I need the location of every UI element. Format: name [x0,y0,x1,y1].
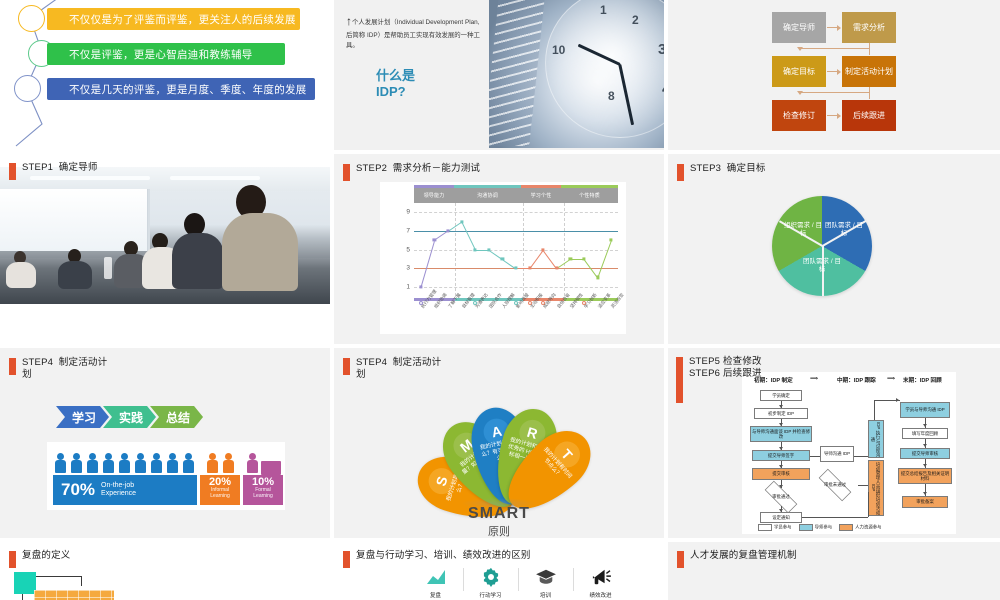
node-7: 审批未通过 [812,476,858,494]
flow-arrow-5-6 [837,113,841,119]
data-point [474,248,477,251]
flow-box-5: 检查修订 [772,100,826,131]
legend-label-3: 人力资源参与 [855,525,881,530]
slide7-title: STEP4 制定活动计划 [22,357,108,381]
pct-70-caption: On-the-job Experience [101,482,136,498]
accent-bar [9,551,16,568]
x-axis-marker [528,301,532,305]
category-group-1: 领导能力 [414,188,454,203]
data-point [419,285,422,288]
smart-subtitle: 原则 [334,523,664,538]
data-point [433,239,436,242]
node-13: 填写年度回顾 [902,428,948,439]
slide6-step: STEP3 [690,163,721,174]
y-axis-tick: 9 [406,209,410,216]
accent-bar [343,551,350,568]
gridline-v [564,203,565,296]
chevron-practice: 实践 [103,406,156,428]
pie-label-2: 团队需求 / 目标 [801,258,843,275]
statement-bar-3: 不仅是几天的评鉴，更是月度、季度、年度的发展 [47,78,315,100]
legend-label-1: 学员参与 [774,525,792,530]
slide2-heading-line2: IDP? [376,84,415,100]
slide5-step: STEP2 [356,163,387,174]
x-axis-marker [541,301,545,305]
idp-definition-text: ↑个人发展计划（Individual Development Plan, 后简称… [346,12,481,50]
statement-text-3: 不仅是几天的评鉴，更是月度、季度、年度的发展 [69,82,307,97]
flow-box-3: 确定目标 [772,56,826,87]
icon-cell-training[interactable]: 培训 [518,566,573,599]
accent-bar [343,358,350,375]
slide2-heading: 什么是 IDP? [376,68,415,101]
category-group-4: 个性特质 [561,188,618,203]
y-axis-tick: 5 [406,246,410,253]
phase-label-3: 末期：IDP 回顾 [903,376,942,384]
slide4-step: STEP1 [22,162,53,173]
ability-test-chart: 领导能力 沟通协调 学习个性 个性特质 13579 执行力管理组织协调了解下属目… [380,182,626,334]
slide12-title: 人才发展的复盘管理机制 [690,550,797,562]
gridline-h [414,250,618,251]
accent-bar [9,163,16,180]
node-12: 学员与导师沟通 IDP [900,402,950,418]
teacher-board-icon [243,449,283,475]
smart-title: SMART [334,505,664,523]
chart-plot-area: 13579 [414,203,618,296]
flow-connector-4-5-h [800,92,870,93]
clock-calendar-image: 10 1 2 3 4 8 [489,0,664,148]
flow-box-1-label: 确定导师 [783,23,815,33]
data-point [555,267,558,270]
x-axis-marker [582,301,586,305]
line-segment [461,222,476,250]
gridline-v [455,203,456,296]
data-point [514,267,517,270]
bar-70: 70% On-the-job Experience [53,475,197,505]
chevron-summary: 总结 [150,406,203,428]
flow-box-4-label: 制定活动计划 [845,67,893,77]
flow-box-5-label: 检查修订 [783,111,815,121]
data-point [460,220,463,223]
slide10-title-row: 复盘的定义 [9,550,71,568]
slide4-title: STEP1 确定导师 [22,162,98,174]
slide-thumbnail-6[interactable]: STEP3 确定目标 团队需求 / 目标 团队需求 / 目标 组织需求 / 目标 [668,154,1000,344]
slide5-title: STEP2 需求分析－能力测试 [356,163,480,175]
phase-arrow-1: ⟹ [810,376,818,382]
statement-text-1: 不仅仅是为了评鉴而评鉴，更关注人的后续发展 [69,12,296,27]
statement-bar-1: 不仅仅是为了评鉴而评鉴，更关注人的后续发展 [47,8,300,30]
slide4-title-text: 确定导师 [59,162,98,173]
slide8-step: STEP4 [356,357,387,368]
node-15: 提交总结报告及相关证明材料 [898,468,952,484]
segment-20: 20% Informal Learning [200,449,240,505]
two-people-icon [200,449,240,475]
goal-sources-pie: 团队需求 / 目标 团队需求 / 目标 组织需求 / 目标 [772,196,872,296]
icon-cell-performance[interactable]: 绩效改进 [573,566,628,599]
legend-label-2: 导师参与 [815,525,833,530]
slide9-title-row: STEP5 检查修改 STEP6 后续跟进 [676,356,762,403]
comparison-icon-row: 复盘 行动学习 [408,566,628,599]
water-bottle [104,257,112,279]
megaphone-icon [577,566,624,588]
slide-thumbnail-11[interactable]: 复盘与行动学习、培训、绩效改进的区别 复盘 [334,542,664,600]
bullet-circle-3 [14,75,41,102]
slide9-title: STEP5 检查修改 STEP6 后续跟进 [689,356,762,380]
gridline-h [414,212,618,213]
data-point [528,267,531,270]
icon-cell-action-learning[interactable]: 行动学习 [463,566,518,599]
icon-label-fupan: 复盘 [412,591,459,599]
statement-bar-2: 不仅是评鉴，更是心智启迪和教练辅导 [47,43,285,65]
slide-thumbnail-grid: 不仅仅是为了评鉴而评鉴，更关注人的后续发展 不仅是评鉴，更是心智启迪和教练辅导 … [0,0,1000,600]
orange-grid-shape [34,590,114,600]
idp-definition-body: 个人发展计划（Individual Development Plan, 后简称 … [346,19,480,49]
learning-stage-chevrons: 学习 实践 总结 [62,406,203,428]
slide-thumbnail-12[interactable]: 人才发展的复盘管理机制 [668,542,1000,600]
category-group-3: 学习个性 [521,188,561,203]
flow-connector-2-3-h [800,48,870,49]
flow-connector-4-5-v [869,87,870,99]
bar-20: 20% Informal Learning [200,475,240,505]
clock-minute-hand [619,64,634,125]
pie-label-3: 组织需求 / 目标 [782,222,824,239]
pct-70: 70% [61,480,95,500]
slide6-title-row: STEP3 确定目标 [677,163,766,181]
x-axis-marker [473,301,477,305]
phase-label-2: 中期：IDP 跟踪 [837,376,876,384]
classroom-figures-icon [53,449,197,475]
flow-box-3-label: 确定目标 [783,67,815,77]
slide4-title-row: STEP1 确定导师 [9,162,98,180]
slide6-title-text: 确定目标 [727,163,766,174]
segment-70: 70% On-the-job Experience [53,449,197,505]
connector-drop [22,594,23,600]
accent-bar [677,551,684,568]
slide-thumbnail-7[interactable]: STEP4 制定活动计划 学习 实践 总结 [0,348,330,538]
gridline-h [414,287,618,288]
bullet-circle-1 [18,5,45,32]
line-segment [434,231,448,241]
connector-hook [36,576,82,586]
slide11-title: 复盘与行动学习、培训、绩效改进的区别 [356,550,531,562]
slide11-title-row: 复盘与行动学习、培训、绩效改进的区别 [343,550,531,568]
phase-arrow-2: ⟹ [887,376,895,382]
line-segment [597,241,612,279]
node-8: 导师沟通 IDP [820,446,854,462]
gear-icon [467,566,514,588]
accent-bar [676,357,683,403]
data-point [596,276,599,279]
data-point [542,248,545,251]
slide-thumbnail-3[interactable]: 确定导师 需求分析 确定目标 制定活动计划 检查修订 后续跟进 [668,0,1000,150]
accent-bar [343,164,350,181]
data-point [569,257,572,260]
node-14: 提交导师审核 [900,448,950,459]
slide5-title-row: STEP2 需求分析－能力测试 [343,163,480,181]
node-10: IDP 执行与过程沟通 [868,420,884,458]
icon-label-action-learning: 行动学习 [467,591,514,599]
flow-box-2: 需求分析 [842,12,896,43]
accent-bar [9,358,16,375]
graduation-cap-icon [522,566,569,588]
slide-thumbnail-4[interactable]: STEP1 确定导师 [0,154,330,344]
flow-box-6: 后续跟进 [842,100,896,131]
slide5-title-text: 需求分析－能力测试 [393,163,480,174]
slide-thumbnail-5[interactable]: STEP2 需求分析－能力测试 领导能力 沟通协调 学习个性 [334,154,664,344]
flow-box-1: 确定导师 [772,12,826,43]
slide-thumbnail-9[interactable]: STEP5 检查修改 STEP6 后续跟进 初期：IDP 制定 中期：IDP 跟… [668,348,1000,538]
node-9: 设定通知 [760,512,802,523]
slide7-step: STEP4 [22,357,53,368]
flow-box-4: 制定活动计划 [842,56,896,87]
slide-thumbnail-10[interactable]: 复盘的定义 [0,542,330,600]
slide9-step6: STEP6 [689,368,720,379]
bar-10: 10% Formal Learning [243,475,283,505]
slide-thumbnail-1[interactable]: 不仅仅是为了评鉴而评鉴，更关注人的后续发展 不仅是评鉴，更是心智启迪和教练辅导 … [0,0,330,150]
category-group-2: 沟通协调 [454,188,521,203]
flow-box-2-label: 需求分析 [853,23,885,33]
icon-label-training: 培训 [522,591,569,599]
y-axis-tick: 7 [406,227,410,234]
meeting-photo [0,167,330,304]
slide6-title: STEP3 确定目标 [690,163,766,175]
node-5: 提交审核 [752,468,810,480]
data-point [446,229,449,232]
segment-10: 10% Formal Learning [243,449,283,505]
data-point [487,248,490,251]
slide8-title-row: STEP4 制定活动计划 [343,357,442,381]
chevron-study: 学习 [56,406,109,428]
slide9-title5: 检查修改 [723,356,762,367]
x-axis-marker [514,301,518,305]
702010-model-card: 70% On-the-job Experience 20% [47,442,285,510]
y-axis-tick: 3 [406,265,410,272]
calendar-spiral [489,0,545,146]
slide-thumbnail-8[interactable]: STEP4 制定活动计划 S 我的计划具体么？ M 我的计划可衡量？如何衡量？ [334,348,664,538]
slide9-title6: 后续跟进 [723,368,762,379]
clock-hour-hand [578,44,621,66]
slide2-heading-line1: 什么是 [376,68,415,84]
line-segment [420,241,435,288]
flow-arrow-1-2 [837,25,841,31]
node-3: 与导师沟通面谈 IDP 并检查修改 [750,426,812,442]
node-16: 审批备案 [902,496,948,508]
flow-connector-2-3-v [869,43,870,55]
statement-text-2: 不仅是评鉴，更是心智启迪和教练辅导 [69,47,253,62]
data-point [501,257,504,260]
idp-process-flowchart: 初期：IDP 制定 中期：IDP 跟踪 末期：IDP 回顾 ⟹ ⟹ 学员确定 初… [742,372,956,534]
data-point [582,257,585,260]
slide8-title: STEP4 制定活动计划 [356,357,442,381]
slide10-title: 复盘的定义 [22,550,71,562]
slide-thumbnail-2[interactable]: 10 1 2 3 4 8 ↑个人发展计划（Individual Developm… [334,0,664,150]
gridline-v [523,203,524,296]
line-segment [529,250,544,269]
node-6: 审批通过 [758,488,804,506]
y-axis-tick: 1 [406,283,410,290]
pct-10-caption: Formal Learning [243,488,283,500]
slide9-step5: STEP5 [689,356,720,367]
flow-box-6-label: 后续跟进 [853,111,885,121]
node-4: 提交导师签字 [752,450,810,461]
data-point [610,239,613,242]
icon-cell-fupan[interactable]: 复盘 [408,566,463,599]
node-1: 学员确定 [760,390,802,401]
clock-face: 10 1 2 3 4 8 [545,0,664,138]
flowchart-legend: 学员参与 导师参与 人力资源参与 [758,524,882,531]
x-axis-marker [419,301,423,305]
pct-20-caption: Informal Learning [200,488,240,500]
chart-up-icon [412,566,459,588]
icon-label-performance: 绩效改进 [577,591,624,599]
node-2: 初步制定 IDP [754,408,808,419]
flow-arrow-3-4 [837,69,841,75]
slide7-title-row: STEP4 制定活动计划 [9,357,108,381]
node-11: 培训管理人员组织培训活动 IDP [868,460,884,516]
accent-bar [677,164,684,181]
slide12-title-row: 人才发展的复盘管理机制 [677,550,797,568]
flow-arrow-2-3 [797,47,803,51]
teal-square-shape [14,572,36,594]
flow-arrow-4-5 [797,91,803,95]
pie-label-1: 团队需求 / 目标 [823,222,865,239]
